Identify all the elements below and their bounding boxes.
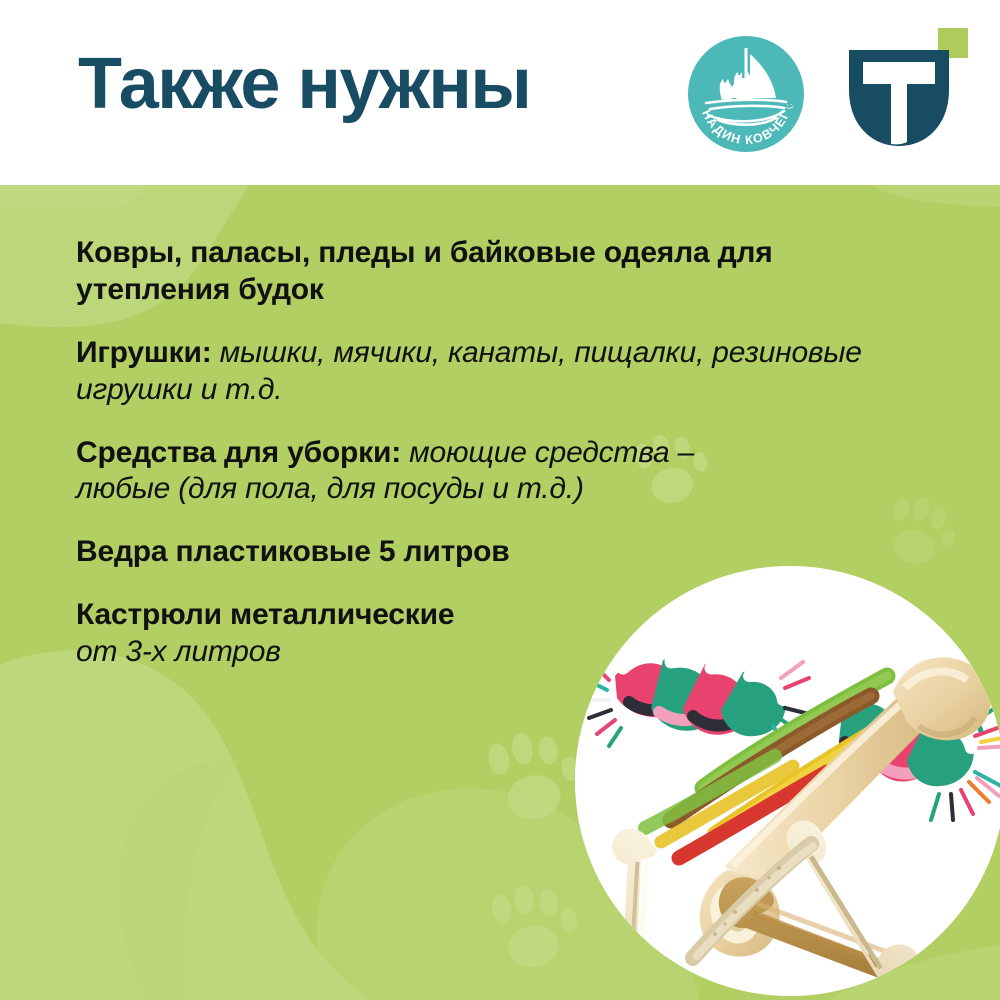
t-shield-logo[interactable] xyxy=(845,28,983,156)
header: Также нужны xyxy=(0,0,1000,185)
list-item: Игрушки: мышки, мячики, канаты, пищалки,… xyxy=(76,335,866,409)
list-item: Средства для уборки: моющие средства – л… xyxy=(76,435,776,509)
page-title: Также нужны xyxy=(78,48,530,120)
list-item: Ковры, паласы, пледы и байковые одеяла д… xyxy=(76,235,876,309)
list-item-label: Средства для уборки: xyxy=(76,436,401,469)
list-item-label: Ведра пластиковые 5 литров xyxy=(76,535,510,568)
list-item-value: от 3-х литров xyxy=(76,634,596,671)
nadin-ark-logo[interactable]: НАДИН КОВЧЕГ :) xyxy=(684,32,808,156)
needed-items-list: Ковры, паласы, пледы и байковые одеяла д… xyxy=(76,235,896,671)
list-item-label: Кастрюли металлические xyxy=(76,598,454,631)
list-item: Ведра пластиковые 5 литров xyxy=(76,534,636,571)
poster: Ковры, паласы, пледы и байковые одеяла д… xyxy=(0,0,1000,1000)
list-item: Кастрюли металлические от 3-х литров xyxy=(76,597,596,671)
list-item-label: Игрушки: xyxy=(76,336,212,369)
list-item-label: Ковры, паласы, пледы и байковые одеяла д… xyxy=(76,236,773,306)
green-body-panel: Ковры, паласы, пледы и байковые одеяла д… xyxy=(0,185,1000,1000)
